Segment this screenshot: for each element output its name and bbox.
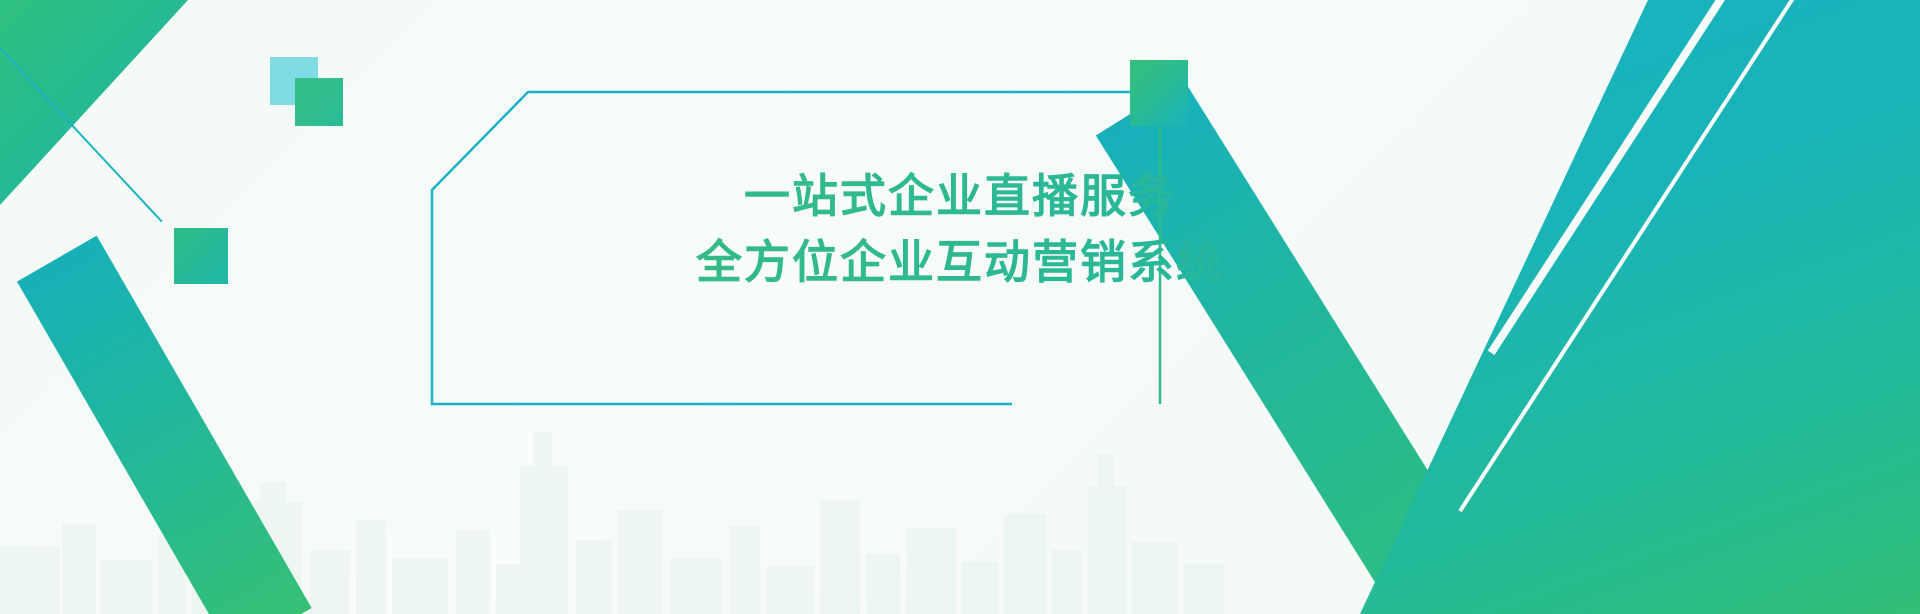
- headline-line-1: 一站式企业直播服务: [0, 168, 1920, 226]
- headline: 一站式企业直播服务 全方位企业互动营销系统: [0, 168, 1920, 292]
- right-wedge-icon: [1360, 0, 1920, 614]
- headline-line-2: 全方位企业互动营销系统: [0, 234, 1920, 292]
- hero-banner: 一站式企业直播服务 全方位企业互动营销系统: [0, 0, 1920, 614]
- square-green-icon: [295, 78, 343, 126]
- diagonal-bar-left-icon: [17, 236, 312, 614]
- square-frame-corner-icon: [1130, 60, 1188, 126]
